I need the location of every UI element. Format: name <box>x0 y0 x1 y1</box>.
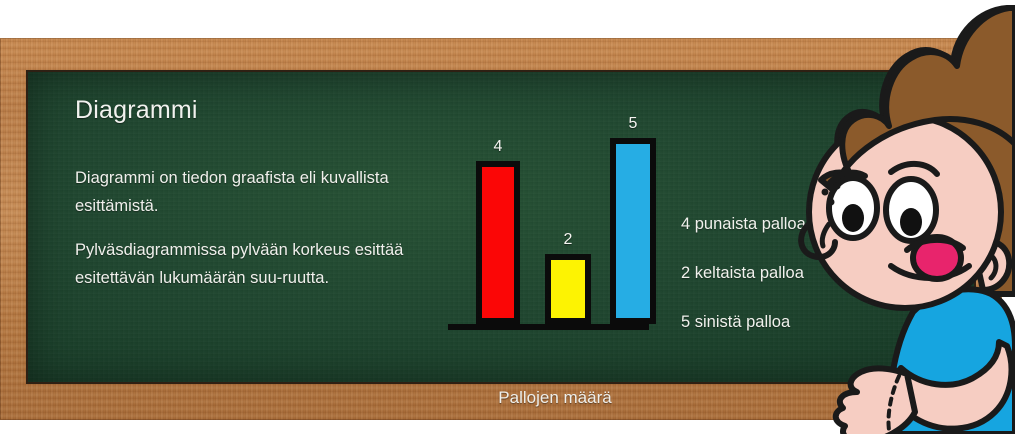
chart-x-axis-label: Pallojen määrä <box>440 388 670 408</box>
freckle-dot <box>834 183 841 190</box>
cartoon-boy-illustration <box>795 0 1015 434</box>
bar-blue: 5 <box>610 138 656 324</box>
pupil-left <box>842 204 864 232</box>
bar-value-label-blue: 5 <box>616 115 650 133</box>
freckle-dot <box>828 199 835 206</box>
bar-value-label-red: 4 <box>482 138 514 156</box>
freckle-dot <box>822 189 829 196</box>
page-title: Diagrammi <box>75 96 198 125</box>
slide-canvas: Diagrammi Diagrammi on tiedon graafista … <box>0 0 1015 434</box>
bar-chart: 4 2 5 Pallojen määrä <box>440 102 670 382</box>
bar-red: 4 <box>476 161 520 324</box>
hand-shape <box>836 368 915 434</box>
bar-yellow: 2 <box>545 254 591 324</box>
chart-baseline-axis <box>448 324 649 330</box>
legend-item-red: 4 punaista palloa <box>681 215 806 234</box>
body-paragraph-2: Pylväsdiagrammissa pylvään korkeus esitt… <box>75 236 405 292</box>
legend-item-blue: 5 sinistä palloa <box>681 313 806 332</box>
body-paragraph-1: Diagrammi on tiedon graafista eli kuvall… <box>75 164 405 220</box>
legend-item-yellow: 2 keltaista palloa <box>681 264 806 283</box>
bar-value-label-yellow: 2 <box>551 231 585 249</box>
pupil-right <box>900 208 922 236</box>
chart-legend: 4 punaista palloa 2 keltaista palloa 5 s… <box>681 215 806 362</box>
